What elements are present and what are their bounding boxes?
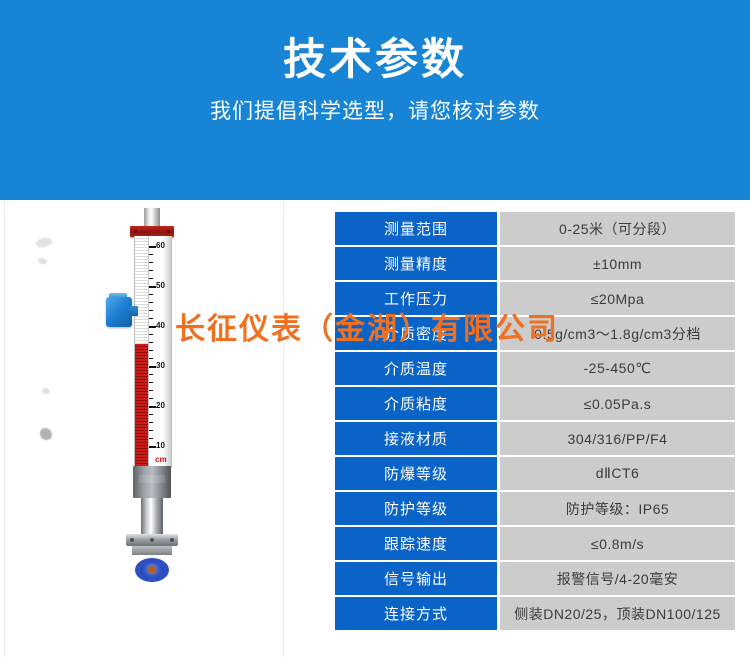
tick-minor xyxy=(149,430,153,431)
tick-major xyxy=(149,446,156,448)
tick-minor xyxy=(149,390,153,391)
tick-minor xyxy=(149,262,153,263)
spec-value: ≤0.05Pa.s xyxy=(500,387,735,420)
table-row: 防护等级 防护等级：IP65 xyxy=(335,492,735,525)
blue-transmitter-head xyxy=(106,293,136,331)
spec-value: ±10mm xyxy=(500,247,735,280)
tick-minor xyxy=(149,350,153,351)
tick-label-30: 30 xyxy=(156,362,165,370)
spec-value: 0.5g/cm3～1.8g/cm3分档 xyxy=(500,317,735,350)
spec-label: 信号输出 xyxy=(335,562,497,595)
transmitter-body xyxy=(106,297,132,327)
spec-value: dⅡCT6 xyxy=(500,457,735,490)
page-title: 技术参数 xyxy=(0,34,750,86)
spec-value: -25-450℃ xyxy=(500,352,735,385)
table-row: 工作压力 ≤20Mpa xyxy=(335,282,735,315)
tick-major xyxy=(149,366,156,368)
spec-value: ≤20Mpa xyxy=(500,282,735,315)
spec-label: 介质温度 xyxy=(335,352,497,385)
product-image-pane: 60 50 40 30 xyxy=(0,200,320,657)
table-row: 接液材质 304/316/PP/F4 xyxy=(335,422,735,455)
spec-value: 报警信号/4-20毫安 xyxy=(500,562,735,595)
scale-plate: 60 50 40 30 xyxy=(134,236,172,468)
table-row: 连接方式 侧装DN20/25，顶装DN100/125 xyxy=(335,597,735,630)
spec-label: 测量精度 xyxy=(335,247,497,280)
spec-value: 304/316/PP/F4 xyxy=(500,422,735,455)
tick-minor xyxy=(149,398,153,399)
stainless-pipe xyxy=(141,498,163,536)
table-row: 防爆等级 dⅡCT6 xyxy=(335,457,735,490)
flange-bolt xyxy=(150,538,154,542)
photo-guide-line-right xyxy=(283,200,284,657)
ruler-scale: 60 50 40 30 xyxy=(149,236,171,468)
flange-bolt xyxy=(130,538,134,542)
tick-minor xyxy=(149,318,153,319)
tick-minor xyxy=(149,270,153,271)
table-row: 跟踪速度 ≤0.8m/s xyxy=(335,527,735,560)
tick-major xyxy=(149,286,156,288)
tick-major xyxy=(149,406,156,408)
spec-label: 防爆等级 xyxy=(335,457,497,490)
top-pipe-stub xyxy=(144,208,160,227)
tick-minor xyxy=(149,422,153,423)
handwheel-hub xyxy=(148,566,156,574)
tick-minor xyxy=(149,438,153,439)
level-gauge-assembly: 60 50 40 30 xyxy=(112,208,212,608)
transmitter-neck xyxy=(130,306,138,316)
spec-label: 接液材质 xyxy=(335,422,497,455)
spec-label: 测量范围 xyxy=(335,212,497,245)
tick-label-10: 10 xyxy=(156,442,165,450)
spec-label: 介质密度 xyxy=(335,317,497,350)
tick-major xyxy=(149,246,156,248)
tick-major xyxy=(149,326,156,328)
tick-minor xyxy=(149,382,153,383)
blue-handwheel-valve xyxy=(135,555,169,585)
photo-artifact-4 xyxy=(40,428,52,440)
table-row: 测量范围 0-25米（可分段） xyxy=(335,212,735,245)
table-row: 介质温度 -25-450℃ xyxy=(335,352,735,385)
spec-value: 侧装DN20/25，顶装DN100/125 xyxy=(500,597,735,630)
liquid-level-fill xyxy=(135,344,148,468)
tick-minor xyxy=(149,414,153,415)
table-row: 介质粘度 ≤0.05Pa.s xyxy=(335,387,735,420)
tick-label-60: 60 xyxy=(156,242,165,250)
scale-unit-label: cm xyxy=(155,456,167,464)
flange-lip xyxy=(132,546,172,555)
tick-minor xyxy=(149,342,153,343)
page-subtitle: 我们提倡科学选型，请您核对参数 xyxy=(0,98,750,126)
junction-housing xyxy=(133,466,171,498)
spec-label: 连接方式 xyxy=(335,597,497,630)
tick-minor xyxy=(149,334,153,335)
photo-guide-line-left xyxy=(4,200,5,657)
tick-minor xyxy=(149,374,153,375)
spec-label: 工作压力 xyxy=(335,282,497,315)
tick-minor xyxy=(149,358,153,359)
page-header-banner: 技术参数 我们提倡科学选型，请您核对参数 xyxy=(0,0,750,200)
tick-minor xyxy=(149,302,153,303)
tick-minor xyxy=(149,254,153,255)
spec-value: ≤0.8m/s xyxy=(500,527,735,560)
tick-label-40: 40 xyxy=(156,322,165,330)
spec-value: 0-25米（可分段） xyxy=(500,212,735,245)
flag-column xyxy=(135,236,149,468)
photo-artifact-3 xyxy=(42,388,50,394)
spec-label: 介质粘度 xyxy=(335,387,497,420)
table-row: 测量精度 ±10mm xyxy=(335,247,735,280)
photo-artifact-1 xyxy=(35,236,53,250)
spec-label: 防护等级 xyxy=(335,492,497,525)
tick-minor xyxy=(149,294,153,295)
flange-bolt xyxy=(170,538,174,542)
table-row: 介质密度 0.5g/cm3～1.8g/cm3分档 xyxy=(335,317,735,350)
tick-label-20: 20 xyxy=(156,402,165,410)
photo-artifact-2 xyxy=(37,257,47,265)
table-row: 信号输出 报警信号/4-20毫安 xyxy=(335,562,735,595)
spec-label: 跟踪速度 xyxy=(335,527,497,560)
tick-minor xyxy=(149,310,153,311)
tick-minor xyxy=(149,278,153,279)
specification-table: 测量范围 0-25米（可分段） 测量精度 ±10mm 工作压力 ≤20Mpa 介… xyxy=(335,212,735,632)
spec-value: 防护等级：IP65 xyxy=(500,492,735,525)
tick-label-50: 50 xyxy=(156,282,165,290)
